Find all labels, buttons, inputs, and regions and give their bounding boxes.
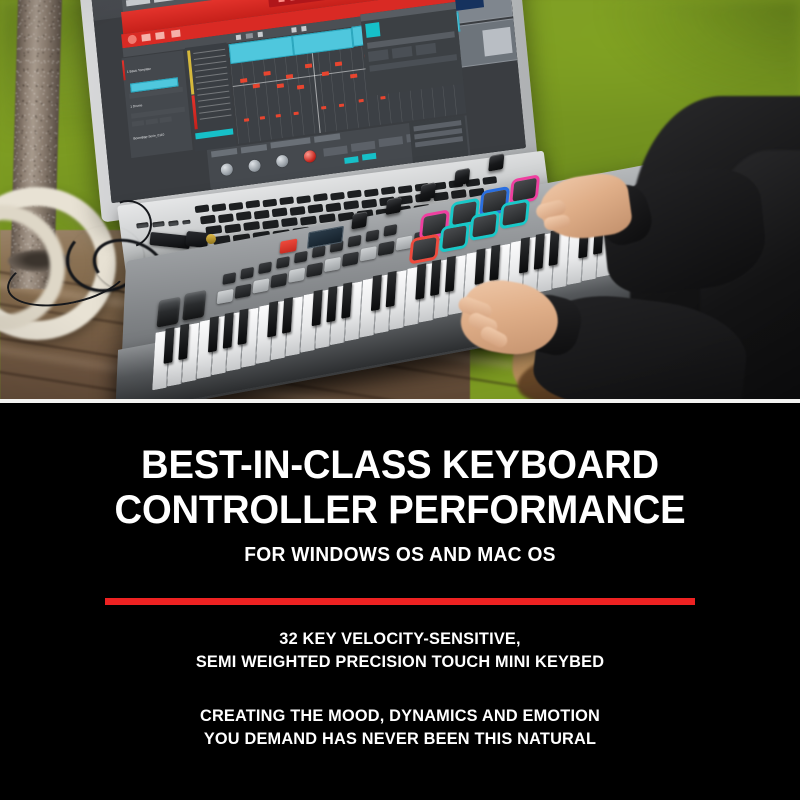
pitch-bend-wheel[interactable] bbox=[156, 297, 180, 328]
encoder-knob-1[interactable] bbox=[351, 211, 367, 229]
record-button[interactable] bbox=[279, 238, 297, 254]
fader-4[interactable] bbox=[324, 257, 341, 272]
product-poster: 120.00 bbox=[0, 0, 800, 800]
feature-block-2-line-1: CREATING THE MOOD, DYNAMICS AND EMOTION bbox=[16, 706, 784, 726]
drum-pad-5[interactable] bbox=[412, 237, 437, 261]
headline-line-2: CONTROLLER PERFORMANCE bbox=[18, 488, 782, 533]
drum-pad-4[interactable] bbox=[512, 178, 537, 202]
encoder-knob-2[interactable] bbox=[386, 197, 402, 215]
feature-block-2-line-2: YOU DEMAND HAS NEVER BEEN THIS NATURAL bbox=[16, 729, 784, 749]
red-divider-rule bbox=[105, 598, 695, 605]
drum-pad-7[interactable] bbox=[472, 214, 497, 238]
text-panel: BEST-IN-CLASS KEYBOARD CONTROLLER PERFOR… bbox=[0, 403, 800, 800]
product-photo: 120.00 bbox=[0, 0, 800, 400]
feature-block-1-line-1: 32 KEY VELOCITY-SENSITIVE, bbox=[16, 629, 784, 649]
subheadline: FOR WINDOWS OS AND MAC OS bbox=[16, 544, 784, 567]
modulation-wheel[interactable] bbox=[182, 290, 206, 321]
headline-line-1: BEST-IN-CLASS KEYBOARD bbox=[18, 443, 782, 488]
feature-block-1-line-2: SEMI WEIGHTED PRECISION TOUCH MINI KEYBE… bbox=[16, 652, 784, 672]
fader-2[interactable] bbox=[252, 278, 269, 293]
fader-3[interactable] bbox=[288, 268, 305, 283]
fader-5[interactable] bbox=[360, 246, 377, 261]
drum-pad-8[interactable] bbox=[502, 202, 527, 226]
drum-pad-6[interactable] bbox=[442, 225, 467, 249]
photo-text-divider bbox=[0, 399, 800, 403]
encoder-knob-3[interactable] bbox=[420, 182, 436, 200]
fader-1[interactable] bbox=[217, 289, 234, 304]
